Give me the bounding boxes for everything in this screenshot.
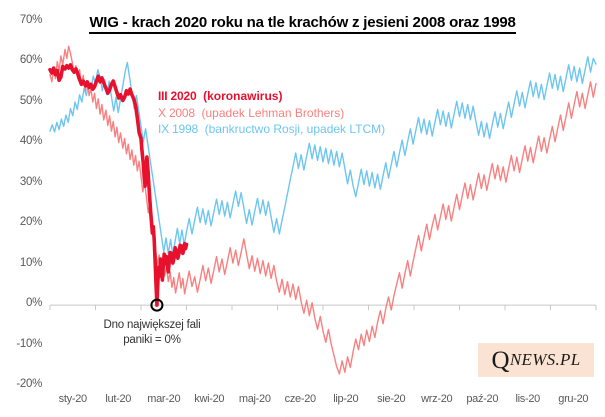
legend-label-2020: III 2020 — [158, 89, 196, 103]
legend-item-2020: III 2020 (koronawirus) — [158, 88, 385, 105]
legend-note-2008: (upadek Lehman Brothers) — [202, 106, 345, 120]
legend-item-2008: X 2008 (upadek Lehman Brothers) — [158, 105, 385, 122]
y-axis-label: 70% — [0, 14, 42, 26]
logo-text: QNEWS.PL — [492, 350, 581, 370]
y-axis-label: 30% — [0, 176, 42, 188]
y-axis-label: 20% — [0, 216, 42, 228]
y-axis-label: -10% — [0, 338, 42, 350]
chart-legend: III 2020 (koronawirus) X 2008 (upadek Le… — [158, 88, 385, 138]
legend-label-1998: IX 1998 — [158, 122, 198, 136]
qnews-logo: QNEWS.PL — [478, 343, 594, 377]
logo-rest: NEWS.PL — [510, 350, 581, 369]
y-axis-label: 0% — [0, 297, 42, 309]
y-axis-label: 40% — [0, 135, 42, 147]
y-axis-label: 10% — [0, 257, 42, 269]
legend-note-1998: (bankructwo Rosji, upadek LTCM) — [205, 122, 386, 136]
y-axis-label: -20% — [0, 378, 42, 390]
x-axis-label: gru-20 — [543, 393, 603, 405]
bottom-annotation: Dno największej fali paniki = 0% — [68, 318, 236, 348]
y-axis-label: 50% — [0, 95, 42, 107]
logo-q: Q — [492, 347, 510, 374]
annotation-line-2: paniki = 0% — [68, 333, 236, 348]
legend-note-2020: (koronawirus) — [203, 89, 282, 103]
chart-container: WIG - krach 2020 roku na tle krachów z j… — [0, 0, 605, 417]
legend-item-1998: IX 1998 (bankructwo Rosji, upadek LTCM) — [158, 121, 385, 138]
legend-label-2008: X 2008 — [158, 106, 195, 120]
y-axis-label: 60% — [0, 54, 42, 66]
series-line-ix-1998 — [50, 57, 596, 255]
annotation-line-1: Dno największej fali — [68, 318, 236, 333]
